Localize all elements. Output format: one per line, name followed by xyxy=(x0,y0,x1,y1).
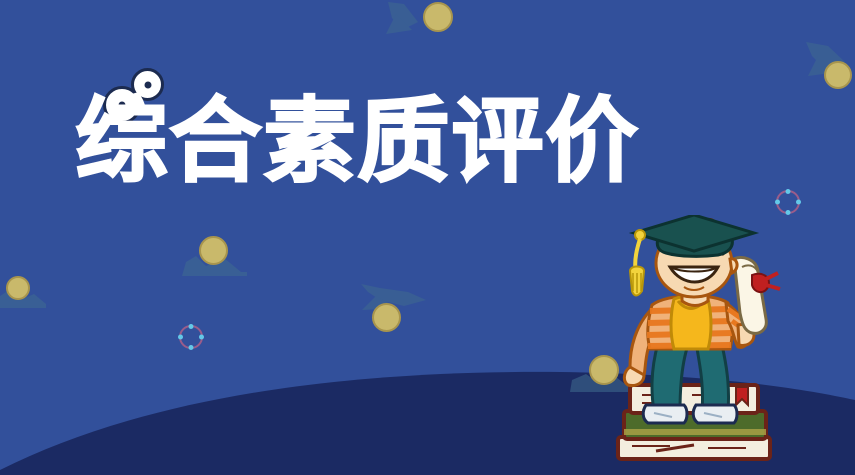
graduate-boy-illustration xyxy=(596,215,796,475)
ring-dot-west xyxy=(178,335,183,340)
ring-dot-south xyxy=(189,345,194,350)
presentation-slide: 综合素质评价 xyxy=(0,0,855,475)
gold-disc-top-center xyxy=(423,2,453,32)
ring-dot-north xyxy=(189,324,194,329)
gold-disc-edge-left xyxy=(6,276,30,300)
ring-dot-east xyxy=(199,335,204,340)
book-stack xyxy=(618,385,770,459)
ring-dot-east xyxy=(796,200,801,205)
eye-dot-right xyxy=(131,68,164,101)
diploma-scroll xyxy=(734,258,780,334)
gold-disc-top-right xyxy=(824,61,852,89)
ring-decoration-upper-right xyxy=(776,190,800,214)
eye-dot-pupil xyxy=(144,81,151,88)
eye-dot-pupil xyxy=(119,102,126,109)
ring-dot-west xyxy=(775,200,780,205)
gold-disc-mid-left xyxy=(199,236,228,265)
ring-decoration-lower-left xyxy=(179,325,203,349)
ring-dot-north xyxy=(786,189,791,194)
gold-disc-mid-center xyxy=(372,303,401,332)
